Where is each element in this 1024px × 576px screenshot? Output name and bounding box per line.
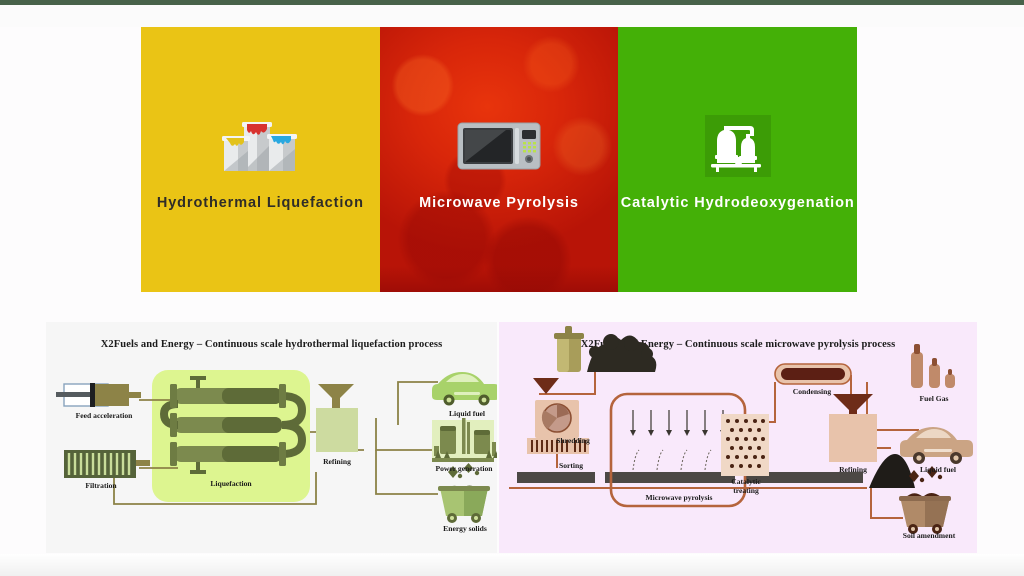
tile-microwave-pyrolysis[interactable]: Microwave Pyrolysis	[380, 27, 619, 292]
node-label-refining: Refining	[304, 458, 370, 467]
tile-hydrothermal-liquefaction[interactable]: Hydrothermal Liquefaction	[141, 27, 380, 292]
power-plant-icon	[432, 418, 497, 462]
technology-tile-band: Hydrothermal Liquefaction	[141, 27, 857, 292]
node-label-condensing: Condensing	[781, 388, 843, 397]
catalyst-bed-icon	[721, 414, 769, 476]
process-diagram-row: X2Fuels and Energy – Continuous scale hy…	[46, 322, 977, 553]
tile-label: Microwave Pyrolysis	[419, 195, 579, 211]
filter-grid-icon	[64, 450, 150, 478]
shredder-icon	[535, 400, 579, 438]
node-label-sorting: Sorting	[541, 462, 601, 471]
hydrothermal-flow-graphic	[46, 322, 497, 553]
node-label-shredding: Shredding	[541, 437, 605, 446]
node-label-liquid-fuel: Liquid fuel	[905, 466, 971, 475]
node-label-catalytic-treating: Catalytic treating	[719, 478, 773, 495]
slide-canvas: Hydrothermal Liquefaction	[0, 0, 1024, 576]
conveyor-bed-icon	[517, 472, 863, 483]
node-label-liquid-fuel: Liquid fuel	[431, 410, 497, 419]
industrial-tanks-icon	[214, 115, 306, 177]
tile-label: Catalytic Hydrodeoxygenation	[621, 195, 855, 211]
node-label-soil-amendment: Soil amendment	[891, 532, 967, 541]
node-label-power-generation: Power generation	[424, 465, 497, 474]
funnel-tank-icon	[316, 384, 358, 452]
node-label-microwave-pyrolysis: Microwave pyrolysis	[627, 494, 731, 503]
syringe-pump-icon	[56, 383, 141, 407]
tubular-reactor-icon	[164, 376, 302, 474]
feed-arrow-icon	[533, 378, 559, 394]
bottom-fade	[0, 554, 1024, 576]
node-label-liquefaction: Liquefaction	[194, 480, 268, 489]
header-whitespace	[0, 5, 1024, 27]
node-label-refining: Refining	[823, 466, 883, 475]
node-label-feed-acceleration: Feed acceleration	[56, 412, 152, 421]
gas-cylinders-icon	[911, 344, 955, 388]
funnel-tank-icon	[829, 394, 877, 462]
biomass-pile-icon	[587, 334, 656, 372]
node-label-energy-solids: Energy solids	[428, 525, 497, 534]
tile-catalytic-hydrodeoxygenation[interactable]: Catalytic Hydrodeoxygenation	[618, 27, 857, 292]
diagram-microwave-pyrolysis: X2Fuels and Energy – Continuous scale mi…	[499, 322, 977, 553]
tile-label: Hydrothermal Liquefaction	[157, 195, 364, 211]
diagram-hydrothermal-liquefaction: X2Fuels and Energy – Continuous scale hy…	[46, 322, 497, 553]
condenser-icon	[775, 364, 851, 384]
biomass-vessel-icon	[554, 326, 584, 372]
node-label-fuel-gas: Fuel Gas	[903, 395, 965, 404]
distillation-reactor-icon	[705, 115, 771, 177]
car-icon	[432, 372, 497, 406]
node-label-filtration: Filtration	[62, 482, 140, 491]
microwave-oven-icon	[456, 115, 542, 177]
car-icon	[900, 427, 973, 464]
